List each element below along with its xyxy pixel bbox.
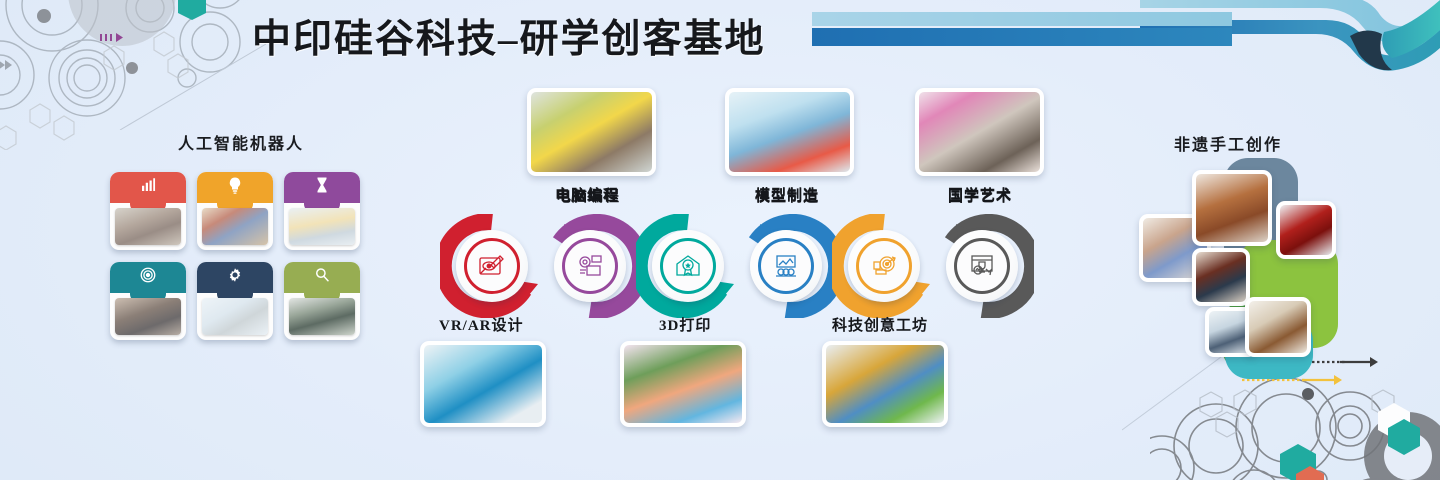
- photo-card-bottom-2[interactable]: [620, 341, 746, 427]
- target-tech-icon: [856, 238, 912, 294]
- print-badge-icon: [660, 238, 716, 294]
- photo-image: [1196, 252, 1246, 302]
- computer-code-icon: [562, 238, 618, 294]
- ribbon-decoration: [1140, 0, 1440, 92]
- poster-canvas: 中印硅谷科技–研学创客基地 人工智能机器人: [0, 0, 1440, 480]
- tabcard-ai-5[interactable]: [197, 262, 273, 340]
- photo-card-top-2[interactable]: [725, 88, 854, 176]
- photo-image: [919, 92, 1040, 172]
- tabcard-ai-2[interactable]: [197, 172, 273, 250]
- photo-image: [1249, 301, 1307, 353]
- gear-icon: [197, 266, 273, 289]
- photo-card-top-3[interactable]: [915, 88, 1044, 176]
- bar-chart-icon: [110, 176, 186, 199]
- vr-design-icon: [464, 238, 520, 294]
- label-step-6: 国学艺术: [948, 184, 1012, 205]
- tabcard-thumb: [115, 298, 181, 335]
- tabcard-ai-1[interactable]: [110, 172, 186, 250]
- process-step-4[interactable]: [734, 214, 838, 318]
- target-icon: [110, 266, 186, 289]
- right-section-title: 非遗手工创作: [1174, 131, 1282, 155]
- diagonal-line-top-left: [0, 0, 270, 130]
- photo-card-right-3[interactable]: [1276, 201, 1336, 259]
- tabcard-ai-6[interactable]: [284, 262, 360, 340]
- photo-card-right-2[interactable]: [1192, 170, 1272, 246]
- photo-image: [531, 92, 652, 172]
- label-step-3: 3D打印: [659, 314, 711, 335]
- photo-image: [424, 345, 542, 423]
- photo-card-right-4[interactable]: [1192, 248, 1250, 306]
- lightbulb-icon: [197, 176, 273, 199]
- photo-card-right-6[interactable]: [1245, 297, 1311, 357]
- photo-image: [1280, 205, 1332, 255]
- process-step-5[interactable]: [832, 214, 936, 318]
- process-step-3[interactable]: [636, 214, 740, 318]
- header-bands: [812, 10, 1232, 62]
- photo-image: [1196, 174, 1268, 242]
- model-build-icon: [758, 238, 814, 294]
- magnifier-icon: [284, 266, 360, 289]
- process-step-2[interactable]: [538, 214, 642, 318]
- label-step-5: 科技创意工坊: [832, 314, 928, 335]
- hourglass-icon: [284, 176, 360, 199]
- photo-card-bottom-1[interactable]: [420, 341, 546, 427]
- tabcard-thumb: [202, 208, 268, 245]
- left-section-title: 人工智能机器人: [178, 130, 304, 154]
- photo-image: [826, 345, 944, 423]
- label-step-2: 电脑编程: [555, 184, 619, 205]
- process-step-6[interactable]: [930, 214, 1034, 318]
- photo-card-bottom-3[interactable]: [822, 341, 948, 427]
- tabcard-thumb: [202, 298, 268, 335]
- label-step-1: VR/AR设计: [439, 314, 524, 335]
- photo-card-top-1[interactable]: [527, 88, 656, 176]
- tabcard-ai-3[interactable]: [284, 172, 360, 250]
- tabcard-ai-4[interactable]: [110, 262, 186, 340]
- photo-image: [729, 92, 850, 172]
- page-title: 中印硅谷科技–研学创客基地: [252, 8, 766, 64]
- tabcard-thumb: [115, 208, 181, 245]
- gear-decoration-top-left: [0, 0, 282, 150]
- tabcard-thumb: [289, 298, 355, 335]
- label-step-4: 模型制造: [755, 184, 819, 205]
- process-step-1[interactable]: [440, 214, 544, 318]
- trophy-web-icon: [954, 238, 1010, 294]
- photo-image: [624, 345, 742, 423]
- tabcard-thumb: [289, 208, 355, 245]
